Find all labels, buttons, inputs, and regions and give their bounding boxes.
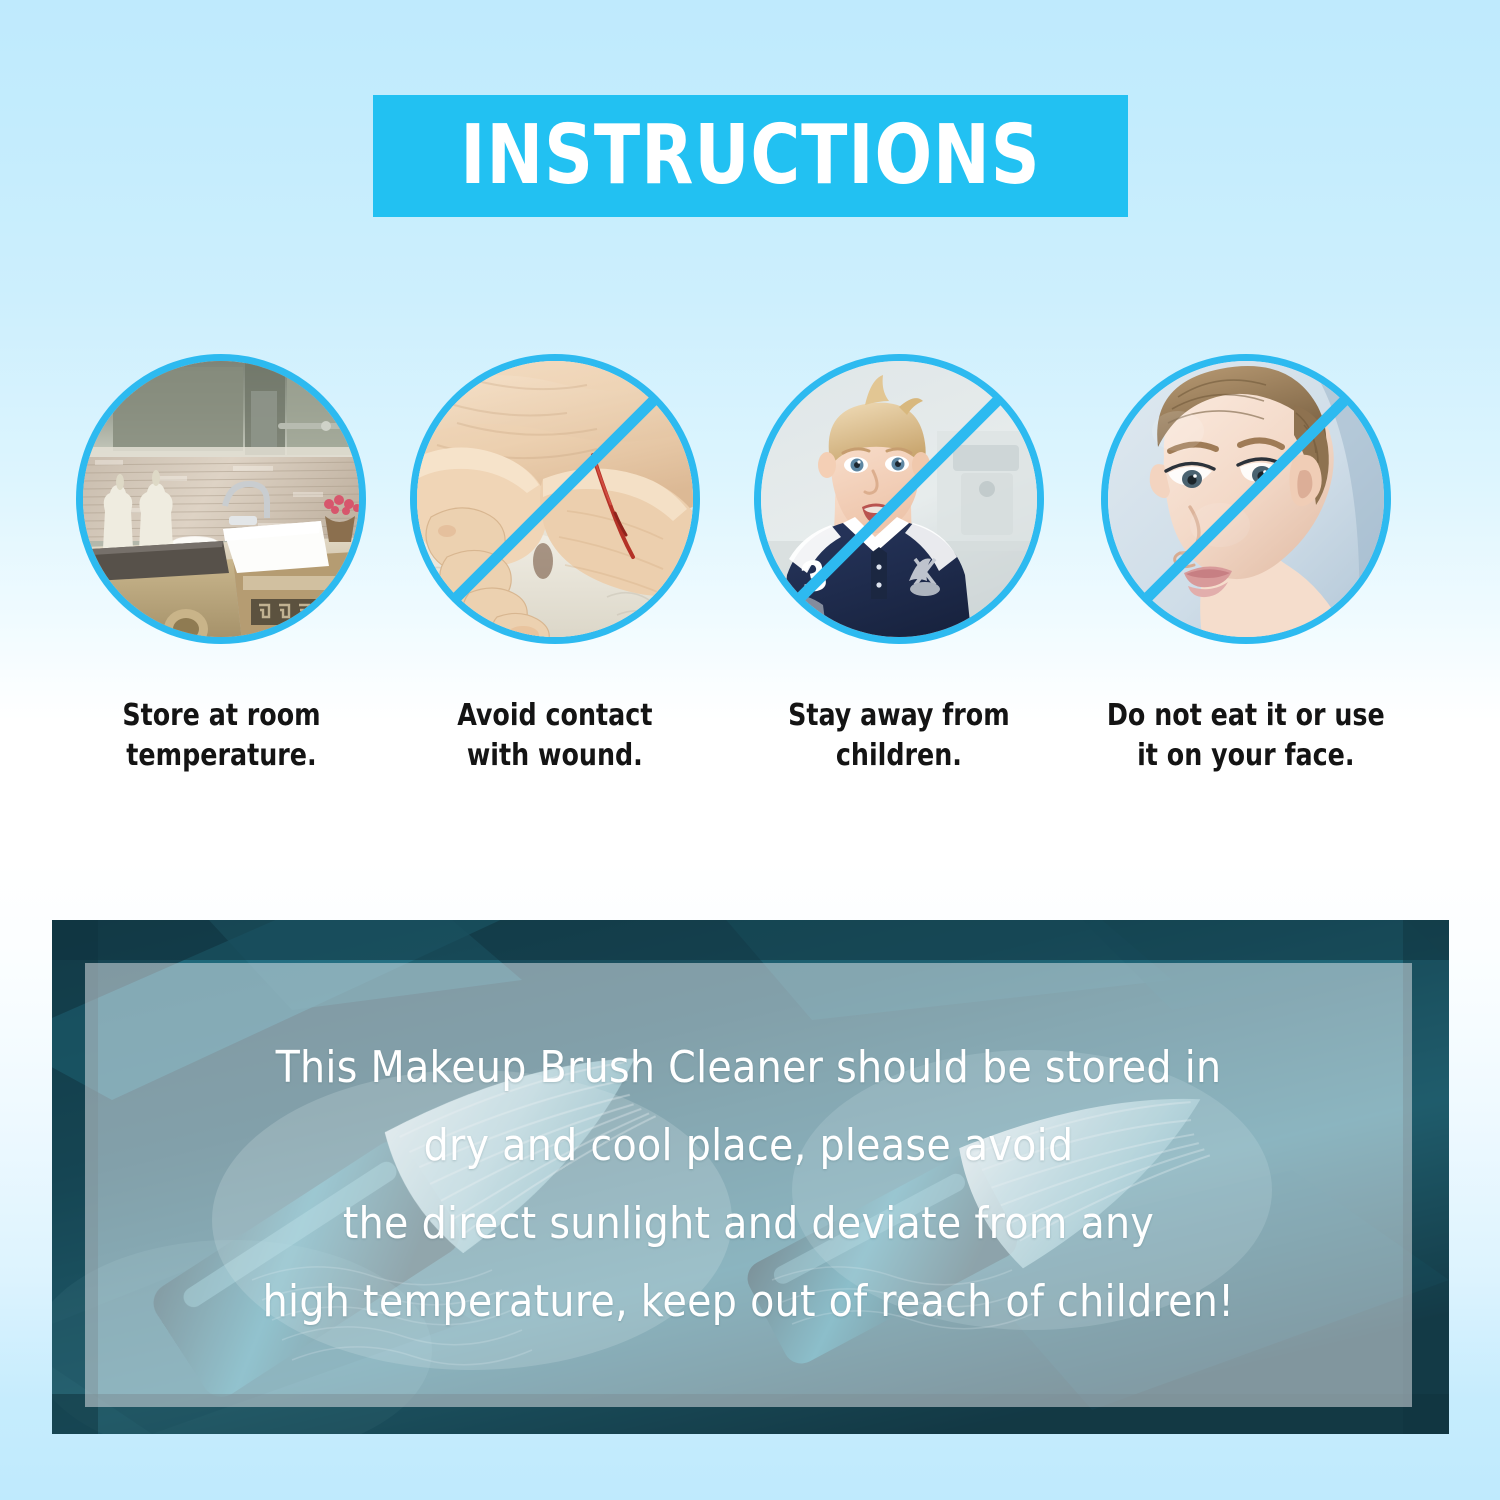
photo-content <box>417 361 693 637</box>
instruction-caption: Avoid contact with wound. <box>457 696 652 776</box>
instruction-caption: Do not eat it or use it on your face. <box>1107 696 1385 776</box>
storage-note-line: dry and cool place, please avoid <box>424 1124 1074 1168</box>
instruction-item-keep-from-children: 3 Stay away from children. <box>717 354 1081 776</box>
instruction-item-not-on-face: Do not eat it or use it on your face. <box>1064 354 1428 776</box>
photo-content <box>83 361 359 637</box>
instruction-item-avoid-wound: Avoid contact with wound. <box>373 354 737 776</box>
photo-content <box>1108 361 1384 637</box>
storage-note-line: This Makeup Brush Cleaner should be stor… <box>276 1046 1222 1090</box>
page-title: INSTRUCTIONS <box>460 115 1040 197</box>
instruction-caption: Stay away from children. <box>788 696 1010 776</box>
hand-wound-photo <box>410 354 700 644</box>
instruction-caption: Store at room temperature. <box>122 696 320 776</box>
storage-note-line: the direct sunlight and deviate from any <box>343 1202 1154 1246</box>
baby-photo: 3 <box>754 354 1044 644</box>
photo-content: 3 <box>761 361 1037 637</box>
instruction-image-wrap <box>410 354 700 644</box>
storage-note-line: high temperature, keep out of reach of c… <box>263 1280 1235 1324</box>
instruction-item-store-temperature: Store at room temperature. <box>39 354 403 776</box>
storage-note-overlay: This Makeup Brush Cleaner should be stor… <box>85 963 1412 1407</box>
instruction-image-wrap <box>76 354 366 644</box>
bathroom-vanity-photo <box>76 354 366 644</box>
woman-face-photo <box>1101 354 1391 644</box>
instruction-image-wrap: 3 <box>754 354 1044 644</box>
instruction-icon-row: Store at room temperature. <box>0 354 1500 776</box>
storage-note-banner: This Makeup Brush Cleaner should be stor… <box>52 920 1449 1434</box>
instruction-image-wrap <box>1101 354 1391 644</box>
instructions-title-banner: INSTRUCTIONS <box>373 95 1128 217</box>
